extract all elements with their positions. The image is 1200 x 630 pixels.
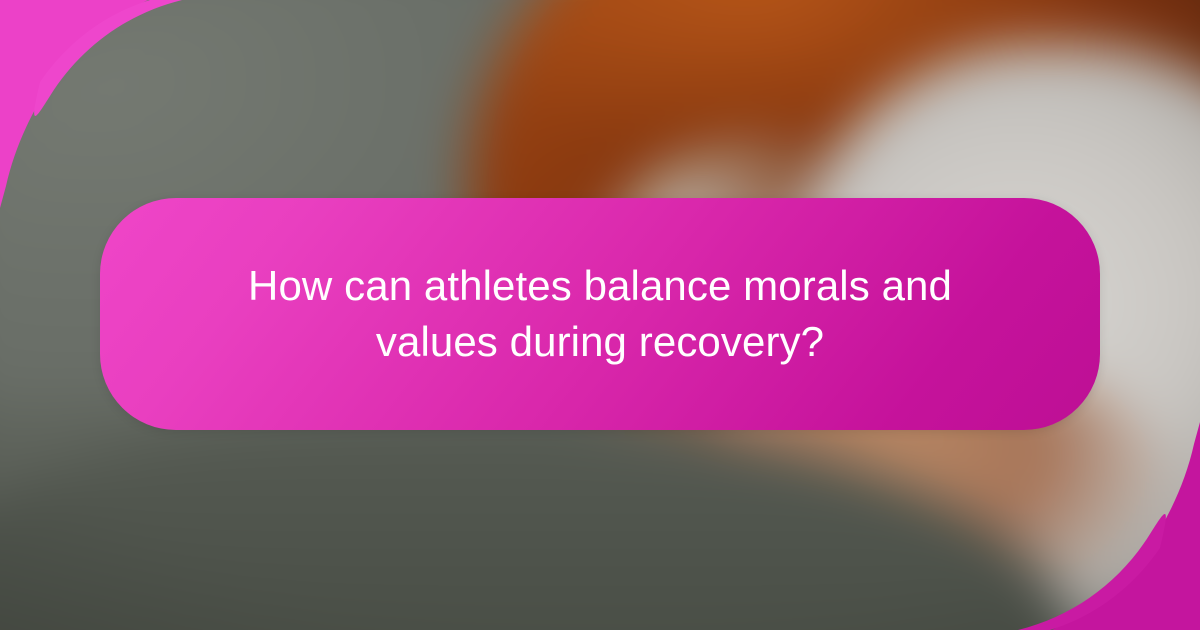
quote-card-canvas: How can athletes balance morals and valu…	[0, 0, 1200, 630]
quote-text: How can athletes balance morals and valu…	[205, 258, 995, 370]
quote-card: How can athletes balance morals and valu…	[100, 198, 1100, 430]
